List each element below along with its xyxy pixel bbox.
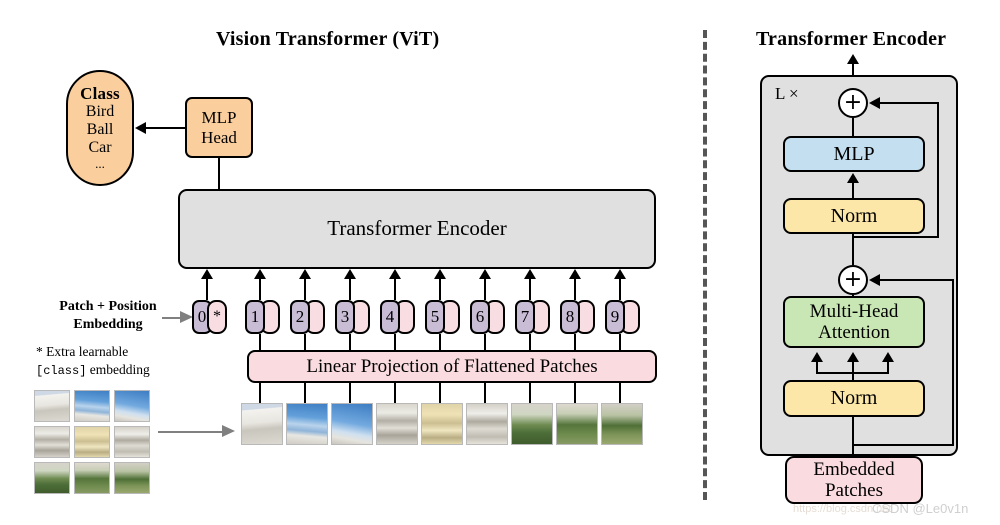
patch-line-2 bbox=[304, 383, 306, 403]
mlp-head-box: MLP Head bbox=[185, 97, 253, 158]
strip-patch-0 bbox=[241, 403, 283, 445]
token-6-index: 6 bbox=[470, 300, 490, 334]
norm-block-bottom: Norm bbox=[783, 380, 925, 417]
residual-attention-vertical bbox=[952, 280, 954, 446]
token-1-up-line bbox=[259, 279, 261, 300]
embedded-patches-line2: Patches bbox=[825, 480, 883, 501]
footnote-line2: [class] embedding bbox=[36, 361, 196, 379]
strip-patch-6 bbox=[511, 403, 553, 445]
multi-head-attention-block: Multi-Head Attention bbox=[783, 296, 925, 348]
embedded-patches-block: Embedded Patches bbox=[785, 456, 923, 504]
mlp-block: MLP bbox=[783, 136, 925, 172]
add-node-bottom: + bbox=[838, 265, 868, 295]
proj-line-2 bbox=[304, 334, 306, 351]
encoder-repeat-label: L × bbox=[775, 84, 799, 104]
patch-line-8 bbox=[574, 383, 576, 403]
line-mlp-to-add bbox=[852, 118, 854, 136]
qkv-arrow-value bbox=[882, 352, 894, 362]
embedded-patches-line1: Embedded bbox=[813, 459, 894, 480]
token-2-up-arrow bbox=[299, 269, 311, 279]
extra-learnable-footnote: * Extra learnable [class] embedding bbox=[36, 343, 196, 379]
qkv-arrow-key bbox=[847, 352, 859, 362]
patch-line-7 bbox=[529, 383, 531, 403]
transformer-encoder-box: Transformer Encoder bbox=[178, 189, 656, 269]
residual-mlp-top bbox=[880, 102, 939, 104]
token-0-up-line bbox=[206, 279, 208, 300]
line-encoder-to-mlphead bbox=[218, 158, 220, 190]
add-symbol-bottom: + bbox=[844, 269, 862, 291]
strip-patch-3 bbox=[376, 403, 418, 445]
proj-line-7 bbox=[529, 334, 531, 351]
norm-block-top: Norm bbox=[783, 198, 925, 234]
strip-patch-4 bbox=[421, 403, 463, 445]
strip-patch-5 bbox=[466, 403, 508, 445]
token-4-index: 4 bbox=[380, 300, 400, 334]
transformer-encoder-label: Transformer Encoder bbox=[327, 217, 506, 241]
strip-patch-8 bbox=[601, 403, 643, 445]
patch-line-9 bbox=[619, 383, 621, 403]
patch-line-5 bbox=[439, 383, 441, 403]
right-panel-title: Transformer Encoder bbox=[756, 28, 946, 51]
token-8-up-arrow bbox=[569, 269, 581, 279]
token-3-up-line bbox=[349, 279, 351, 300]
grid-patch-6 bbox=[34, 462, 70, 494]
linear-projection-label: Linear Projection of Flattened Patches bbox=[306, 356, 597, 377]
proj-line-9 bbox=[619, 334, 621, 351]
mlp-block-label: MLP bbox=[833, 143, 874, 165]
panel-divider bbox=[703, 30, 707, 500]
add-node-top: + bbox=[838, 88, 868, 118]
token-2-up-line bbox=[304, 279, 306, 300]
strip-patch-7 bbox=[556, 403, 598, 445]
arrow-mlphead-to-class-head bbox=[135, 122, 146, 134]
patch-line-4 bbox=[394, 383, 396, 403]
token-5-up-arrow bbox=[434, 269, 446, 279]
line-add-to-normtop bbox=[852, 234, 854, 265]
mlp-head-line2: Head bbox=[201, 128, 237, 147]
token-9-up-arrow bbox=[614, 269, 626, 279]
footnote-embedding-word: embedding bbox=[86, 362, 149, 377]
class-output-box: Class Bird Ball Car ... bbox=[66, 70, 134, 186]
token-0-up-arrow bbox=[201, 269, 213, 279]
token-7-up-arrow bbox=[524, 269, 536, 279]
line-normtop-to-mlp bbox=[852, 182, 854, 198]
token-3-up-arrow bbox=[344, 269, 356, 279]
residual-attention-bottom bbox=[852, 444, 954, 446]
proj-line-8 bbox=[574, 334, 576, 351]
class-item-ellipsis: ... bbox=[95, 157, 105, 172]
linear-projection-box: Linear Projection of Flattened Patches bbox=[247, 350, 657, 383]
qkv-right-stem bbox=[887, 361, 889, 373]
token-5-up-line bbox=[439, 279, 441, 300]
grid-patch-5 bbox=[114, 426, 150, 458]
qkv-arrow-query bbox=[811, 352, 823, 362]
token-4-up-line bbox=[394, 279, 396, 300]
residual-mlp-bottom bbox=[852, 236, 939, 238]
qkv-left-stem bbox=[816, 361, 818, 373]
token-7-up-line bbox=[529, 279, 531, 300]
proj-line-1 bbox=[259, 334, 261, 351]
grid-patch-8 bbox=[114, 462, 150, 494]
norm-block-bottom-label: Norm bbox=[831, 387, 878, 409]
norm-block-top-label: Norm bbox=[831, 205, 878, 227]
token-2-index: 2 bbox=[290, 300, 310, 334]
token-4-up-arrow bbox=[389, 269, 401, 279]
residual-attention-arrow bbox=[869, 274, 880, 286]
proj-line-6 bbox=[484, 334, 486, 351]
grid-patch-0 bbox=[34, 390, 70, 422]
arrow-normtop-to-mlp bbox=[847, 173, 859, 183]
left-panel-title: Vision Transformer (ViT) bbox=[216, 28, 439, 51]
class-item-bird: Bird bbox=[86, 103, 114, 121]
grid-patch-1 bbox=[74, 390, 110, 422]
residual-mlp-arrow bbox=[869, 97, 880, 109]
proj-line-5 bbox=[439, 334, 441, 351]
class-item-car: Car bbox=[88, 139, 111, 157]
class-item-ball: Ball bbox=[87, 121, 114, 139]
residual-mlp-vertical bbox=[937, 103, 939, 238]
token-1-up-arrow bbox=[254, 269, 266, 279]
class-heading: Class bbox=[80, 84, 120, 103]
residual-attention-top bbox=[880, 279, 954, 281]
arrow-grid-to-strip-line bbox=[158, 431, 224, 433]
mlp-head-line1: MLP bbox=[202, 108, 237, 127]
arrow-grid-to-strip-head bbox=[222, 425, 235, 437]
token-6-up-line bbox=[484, 279, 486, 300]
line-embedded-to-norm bbox=[852, 415, 854, 458]
token-5-index: 5 bbox=[425, 300, 445, 334]
grid-patch-3 bbox=[34, 426, 70, 458]
encoder-output-arrow bbox=[847, 54, 859, 64]
grid-patch-4 bbox=[74, 426, 110, 458]
grid-patch-2 bbox=[114, 390, 150, 422]
token-6-up-arrow bbox=[479, 269, 491, 279]
token-1-index: 1 bbox=[245, 300, 265, 334]
patch-line-6 bbox=[484, 383, 486, 403]
patch-line-1 bbox=[259, 383, 261, 403]
patch-line-3 bbox=[349, 383, 351, 403]
proj-line-3 bbox=[349, 334, 351, 351]
footnote-class-code: [class] bbox=[36, 364, 86, 378]
token-9-index: 9 bbox=[605, 300, 625, 334]
footnote-line1: * Extra learnable bbox=[36, 343, 196, 361]
grid-patch-7 bbox=[74, 462, 110, 494]
proj-line-4 bbox=[394, 334, 396, 351]
arrow-mlphead-to-class-line bbox=[146, 127, 185, 129]
strip-patch-1 bbox=[286, 403, 328, 445]
token-9-up-line bbox=[619, 279, 621, 300]
token-7-index: 7 bbox=[515, 300, 535, 334]
attention-label-line1: Multi-Head bbox=[810, 301, 899, 322]
token-8-index: 8 bbox=[560, 300, 580, 334]
token-3-index: 3 bbox=[335, 300, 355, 334]
strip-patch-2 bbox=[331, 403, 373, 445]
add-symbol-top: + bbox=[844, 92, 862, 114]
token-0-embedding: * bbox=[207, 300, 227, 334]
watermark-text: CSDN @Le0v1n bbox=[872, 501, 968, 516]
token-8-up-line bbox=[574, 279, 576, 300]
attention-label-line2: Attention bbox=[818, 322, 890, 343]
